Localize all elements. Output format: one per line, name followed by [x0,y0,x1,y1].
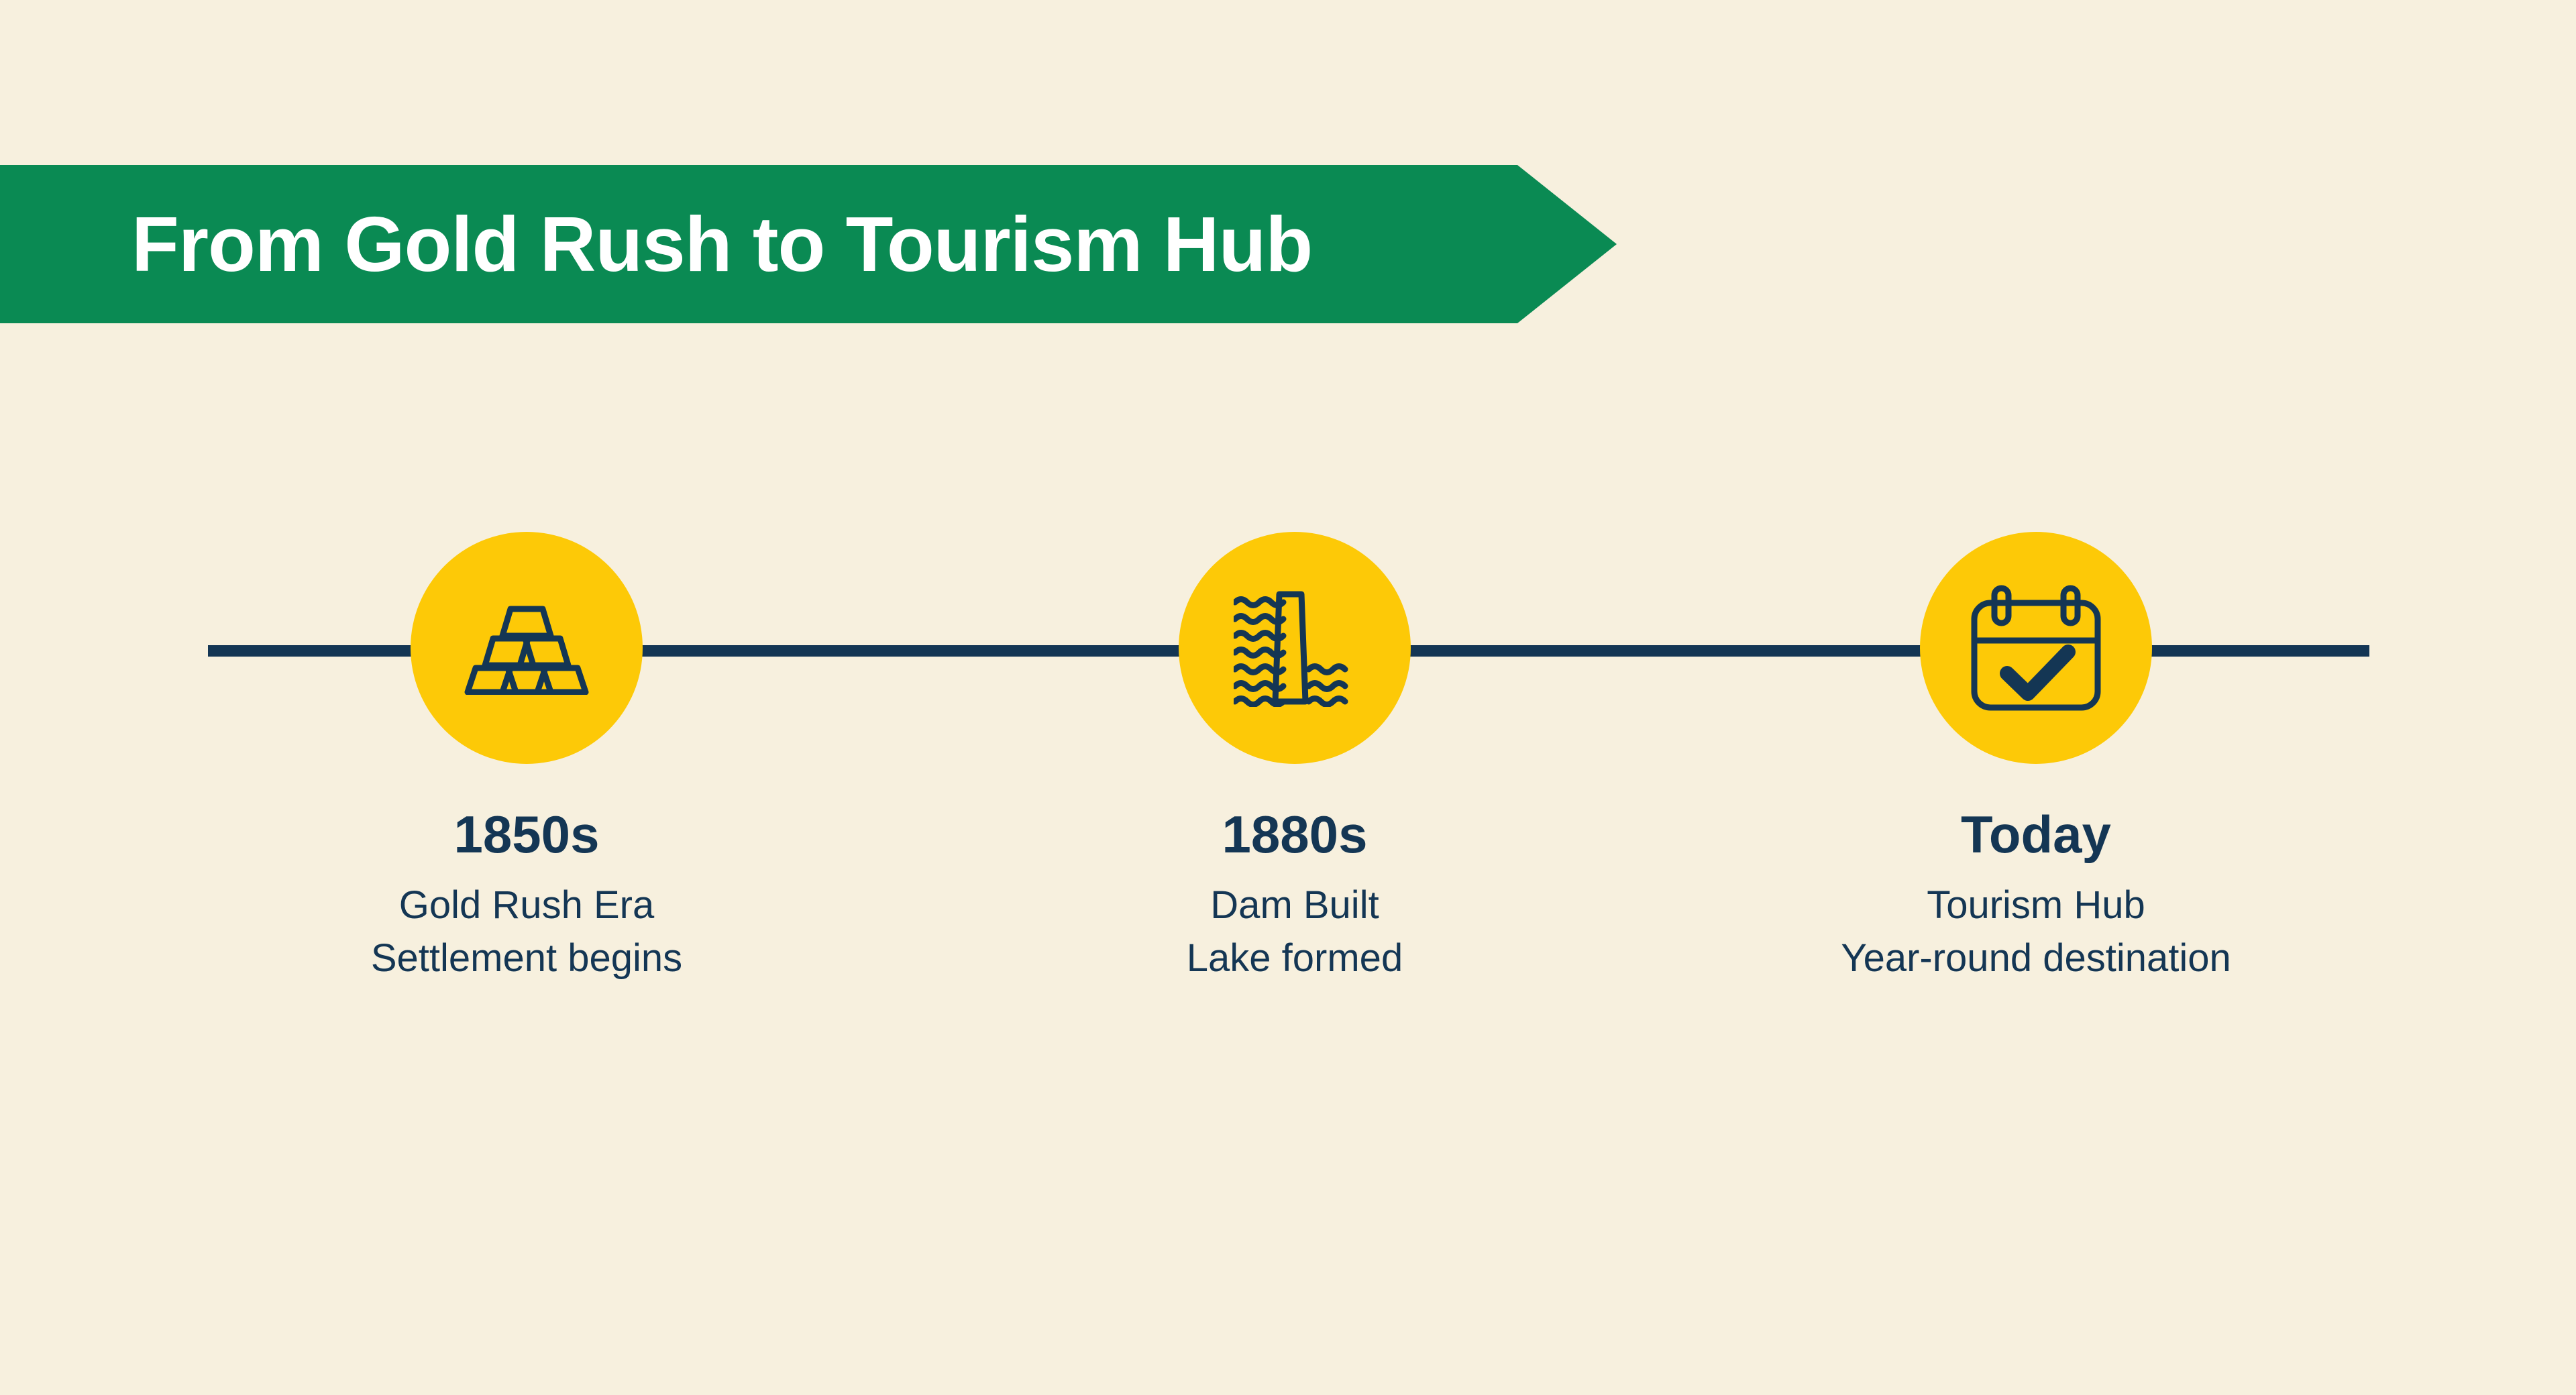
milestone-description-line2: Settlement begins [371,939,682,978]
milestone-description-line1: Dam Built [1210,886,1379,925]
milestone-icon-circle [1920,532,2152,764]
dam-icon [1234,589,1356,707]
calendar-check-icon [1970,584,2102,712]
infographic-canvas: From Gold Rush to Tourism Hub 1850s Gold… [0,0,2576,1395]
milestone-icon-circle [1179,532,1411,764]
gold-bars-icon [460,601,594,695]
milestone-description-line2: Year-round destination [1841,939,2231,978]
milestone-year: 1850s [454,808,600,860]
header-banner: From Gold Rush to Tourism Hub [0,165,1617,323]
milestone-description-line2: Lake formed [1187,939,1403,978]
milestone-description-line1: Gold Rush Era [399,886,654,925]
page-title: From Gold Rush to Tourism Hub [131,205,1312,283]
milestone-description-line1: Tourism Hub [1927,886,2145,925]
timeline-milestone-1880s[interactable]: 1880s Dam Built Lake formed [1060,532,1529,978]
milestone-year: 1880s [1222,808,1368,860]
timeline-milestone-1850s[interactable]: 1850s Gold Rush Era Settlement begins [292,532,761,978]
timeline-milestone-today[interactable]: Today Tourism Hub Year-round destination [1801,532,2271,978]
milestone-icon-circle [411,532,643,764]
milestone-year: Today [1961,808,2111,860]
